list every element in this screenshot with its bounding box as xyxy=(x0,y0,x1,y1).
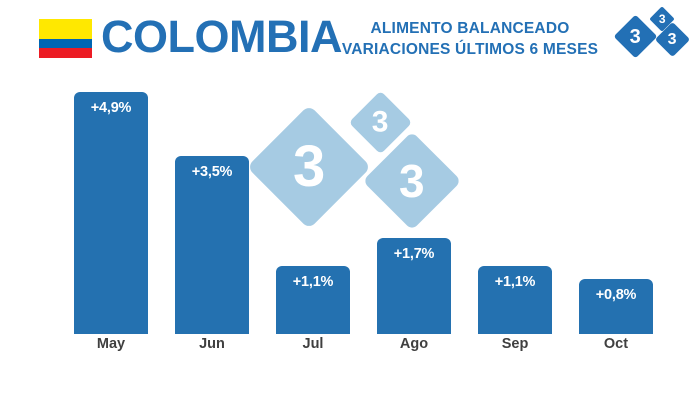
chart-plot-area: +4,9%+3,5%+1,1%+1,7%+1,1%+0,8% xyxy=(0,78,700,334)
colombia-flag-icon xyxy=(39,19,92,58)
axis-label-ago: Ago xyxy=(377,336,451,352)
flag-stripe-red xyxy=(39,48,92,58)
axis-label-jun: Jun xyxy=(175,336,249,352)
bar-value-label: +1,1% xyxy=(478,274,552,290)
logo-diamond-small-digit: 3 xyxy=(659,13,666,25)
infographic-page: COLOMBIA ALIMENTO BALANCEADO VARIACIONES… xyxy=(0,0,700,400)
logo-diamond-large-digit: 3 xyxy=(630,27,641,47)
axis-label-may: May xyxy=(74,336,148,352)
bar-sep[interactable]: +1,1% xyxy=(478,266,552,334)
bar-jul[interactable]: +1,1% xyxy=(276,266,350,334)
bar-value-label: +1,1% xyxy=(276,274,350,290)
subtitle-line-2: VARIACIONES ÚLTIMOS 6 MESES xyxy=(330,39,610,60)
bar-oct[interactable]: +0,8% xyxy=(579,279,653,334)
bar-value-label: +1,7% xyxy=(377,246,451,262)
axis-label-jul: Jul xyxy=(276,336,350,352)
page-subtitle: ALIMENTO BALANCEADO VARIACIONES ÚLTIMOS … xyxy=(330,18,610,60)
bar-value-label: +4,9% xyxy=(74,100,148,116)
logo-diamond-medium-digit: 3 xyxy=(668,32,677,48)
chart-x-axis: MayJunJulAgoSepOct xyxy=(0,336,700,366)
axis-label-sep: Sep xyxy=(478,336,552,352)
flag-stripe-yellow xyxy=(39,19,92,39)
bar-chart: +4,9%+3,5%+1,1%+1,7%+1,1%+0,8% MayJunJul… xyxy=(0,78,700,400)
bar-may[interactable]: +4,9% xyxy=(74,92,148,334)
header: COLOMBIA ALIMENTO BALANCEADO VARIACIONES… xyxy=(0,0,700,78)
bar-ago[interactable]: +1,7% xyxy=(377,238,451,334)
bar-value-label: +0,8% xyxy=(579,287,653,303)
page-title: COLOMBIA xyxy=(101,9,342,65)
bar-value-label: +3,5% xyxy=(175,164,249,180)
axis-label-oct: Oct xyxy=(579,336,653,352)
flag-stripe-blue xyxy=(39,39,92,49)
subtitle-line-1: ALIMENTO BALANCEADO xyxy=(330,18,610,39)
bar-jun[interactable]: +3,5% xyxy=(175,156,249,334)
three-diamonds-logo-icon: 3 3 3 xyxy=(618,7,690,65)
